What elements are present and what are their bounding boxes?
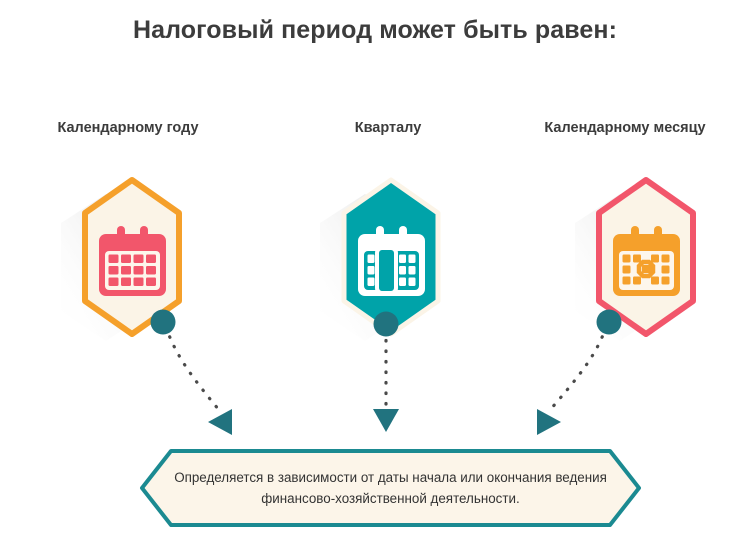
- hex-quarter-graphic: [303, 172, 479, 342]
- summary-banner: Определяется в зависимости от даты начал…: [138, 447, 643, 529]
- column-label-month: Календарному месяцу: [505, 120, 745, 136]
- arrow-left-icon: [208, 409, 232, 435]
- hex-node-month[interactable]: [558, 172, 734, 342]
- page-title: Налоговый период может быть равен:: [0, 16, 750, 45]
- calendar-quarter-icon: [358, 226, 425, 296]
- infographic-root: Налоговый период может быть равен: Кален…: [0, 0, 750, 549]
- calendar-month-icon: [613, 226, 680, 296]
- arrow-down-icon: [373, 409, 399, 432]
- banner-text: Определяется в зависимости от даты начал…: [183, 447, 598, 529]
- calendar-year-icon: [99, 226, 166, 296]
- hex-year-graphic: [44, 172, 220, 342]
- hex-node-year[interactable]: [44, 172, 220, 342]
- hex-month-graphic: [558, 172, 734, 342]
- column-label-quarter: Кварталу: [268, 120, 508, 136]
- arrow-right-icon: [537, 409, 561, 435]
- banner-line-2: финансово-хозяйственной деятельности.: [261, 488, 519, 509]
- banner-line-1: Определяется в зависимости от даты начал…: [174, 467, 607, 488]
- column-label-year: Календарному году: [8, 120, 248, 136]
- hex-node-quarter[interactable]: [303, 172, 479, 342]
